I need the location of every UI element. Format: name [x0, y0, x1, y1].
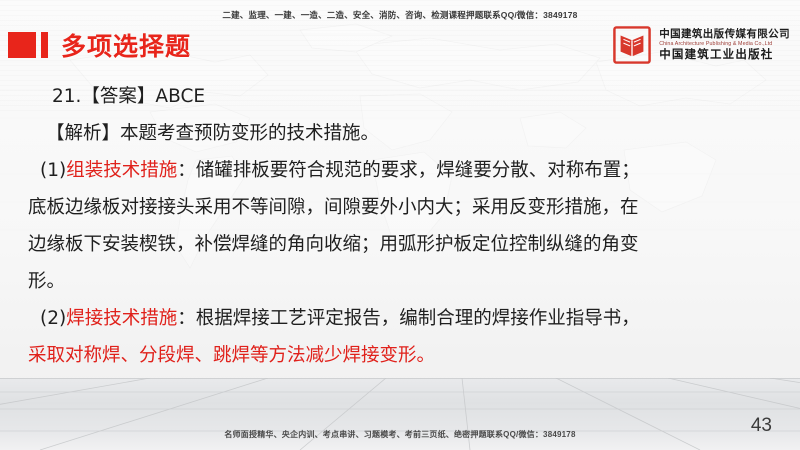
logo-text-group: 中国建筑出版传媒有限公司 China Architecture Publishi…	[659, 28, 790, 61]
publisher-logo: 中国建筑出版传媒有限公司 China Architecture Publishi…	[613, 26, 790, 64]
page-number: 43	[751, 415, 772, 437]
slide-canvas: 二建、监理、一建、一造、二造、安全、消防、咨询、检测课程押题联系QQ/微信：38…	[0, 0, 800, 450]
content-segment-point1-l4-0: 形。	[28, 271, 65, 292]
content-segment-point1-l3-0: 边缘板下安装楔铁，补偿焊缝的角向收缩；用弧形护板定位控制纵缝的角变	[28, 234, 639, 255]
content-line-analysis: 【解析】本题考查预防变形的技术措施。	[22, 115, 792, 152]
content-segment-point2-l1-1: 焊接技术措施	[66, 308, 177, 329]
content-line-point2-l2: 采取对称焊、分段焊、跳焊等方法减少焊接变形。	[22, 337, 792, 374]
open-book-logo-icon	[613, 26, 651, 64]
content-line-point2-l1: (2)焊接技术措施：根据焊接工艺评定报告，编制合理的焊接作业指导书，	[22, 300, 792, 337]
title-block-icon	[8, 32, 36, 58]
content-segment-point1-l1-0: (1)	[40, 160, 66, 181]
footer-contact-line: 名师面授精华、央企内训、考点串讲、习题模考、考前三页纸、绝密押题联系QQ/微信：…	[0, 429, 800, 440]
content-segment-point1-l2-0: 底板边缘板对接接头采用不等间隙，间隙要外小内大；采用反变形措施，在	[28, 197, 639, 218]
content-line-answer: 21.【答案】ABCE	[22, 78, 792, 115]
content-line-point1-l1: (1)组装技术措施：储罐排板要符合规范的要求，焊缝要分散、对称布置；	[22, 152, 792, 189]
content-line-point1-l4: 形。	[22, 263, 792, 300]
slide-body: 21.【答案】ABCE【解析】本题考查预防变形的技术措施。(1)组装技术措施：储…	[22, 78, 792, 374]
content-segment-point2-l1-2: ：根据焊接工艺评定报告，编制合理的焊接作业指导书，	[177, 308, 640, 329]
logo-company-cn: 中国建筑出版传媒有限公司	[659, 28, 790, 40]
content-segment-point1-l1-1: 组装技术措施	[66, 160, 177, 181]
content-segment-point2-l2-0: 采取对称焊、分段焊、跳焊等方法减少焊接变形。	[28, 345, 435, 366]
header-contact-line: 二建、监理、一建、一造、二造、安全、消防、咨询、检测课程押题联系QQ/微信：38…	[0, 9, 800, 21]
content-segment-point1-l1-2: ：储罐排板要符合规范的要求，焊缝要分散、对称布置；	[177, 160, 640, 181]
content-line-point1-l3: 边缘板下安装楔铁，补偿焊缝的角向收缩；用弧形护板定位控制纵缝的角变	[22, 226, 792, 263]
page-title: 多项选择题	[61, 27, 191, 63]
title-bar-icon	[41, 32, 48, 58]
logo-press-cn: 中国建筑工业出版社	[659, 48, 790, 61]
content-line-point1-l2: 底板边缘板对接接头采用不等间隙，间隙要外小内大；采用反变形措施，在	[22, 189, 792, 226]
content-segment-answer-0: 21.【答案】ABCE	[52, 86, 205, 107]
content-segment-analysis-0: 【解析】本题考查预防变形的技术措施。	[46, 123, 379, 144]
slide-title-group: 多项选择题	[8, 28, 191, 62]
content-segment-point2-l1-0: (2)	[40, 308, 66, 329]
